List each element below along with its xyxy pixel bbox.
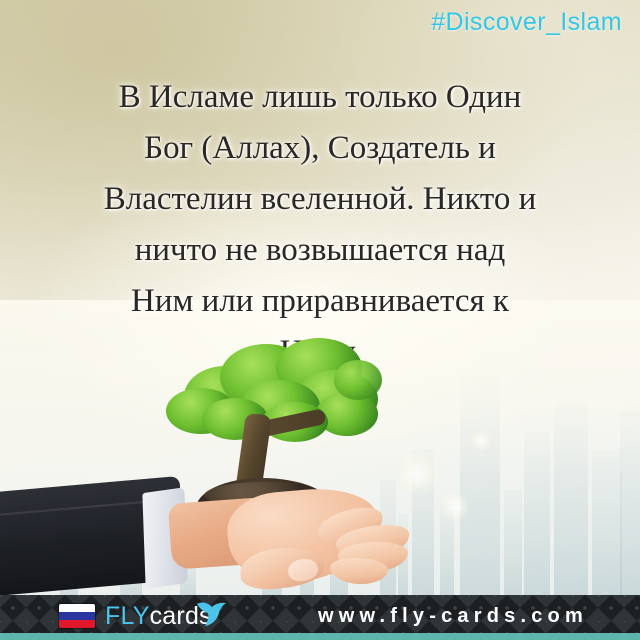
quote-line: Властелин вселенной. Никто и <box>28 174 612 225</box>
footer-accent-strip <box>0 633 640 640</box>
quote-line: ничто не возвышается над <box>28 225 612 276</box>
brand-primary-label: FLY <box>105 602 150 630</box>
light-flare <box>470 430 492 452</box>
light-flare <box>396 452 440 496</box>
hashtag-label: #Discover_Islam <box>431 8 622 37</box>
website-url[interactable]: www.fly-cards.com <box>318 605 588 628</box>
bird-icon <box>195 600 229 628</box>
arm <box>0 470 234 588</box>
quote-line: В Исламе лишь только Один <box>28 72 612 123</box>
quote-line: Ним или приравнивается к <box>28 276 612 327</box>
quote-text: В Исламе лишь только Один Бог (Аллах), С… <box>28 72 612 378</box>
greeting-card: #Discover_Islam В Исламе лишь только Оди… <box>0 0 640 640</box>
light-flare <box>440 492 470 522</box>
footer-bar: FLYcards www.fly-cards.com <box>0 595 640 640</box>
russian-flag-icon <box>59 604 95 628</box>
quote-line: Бог (Аллах), Создатель и <box>28 123 612 174</box>
